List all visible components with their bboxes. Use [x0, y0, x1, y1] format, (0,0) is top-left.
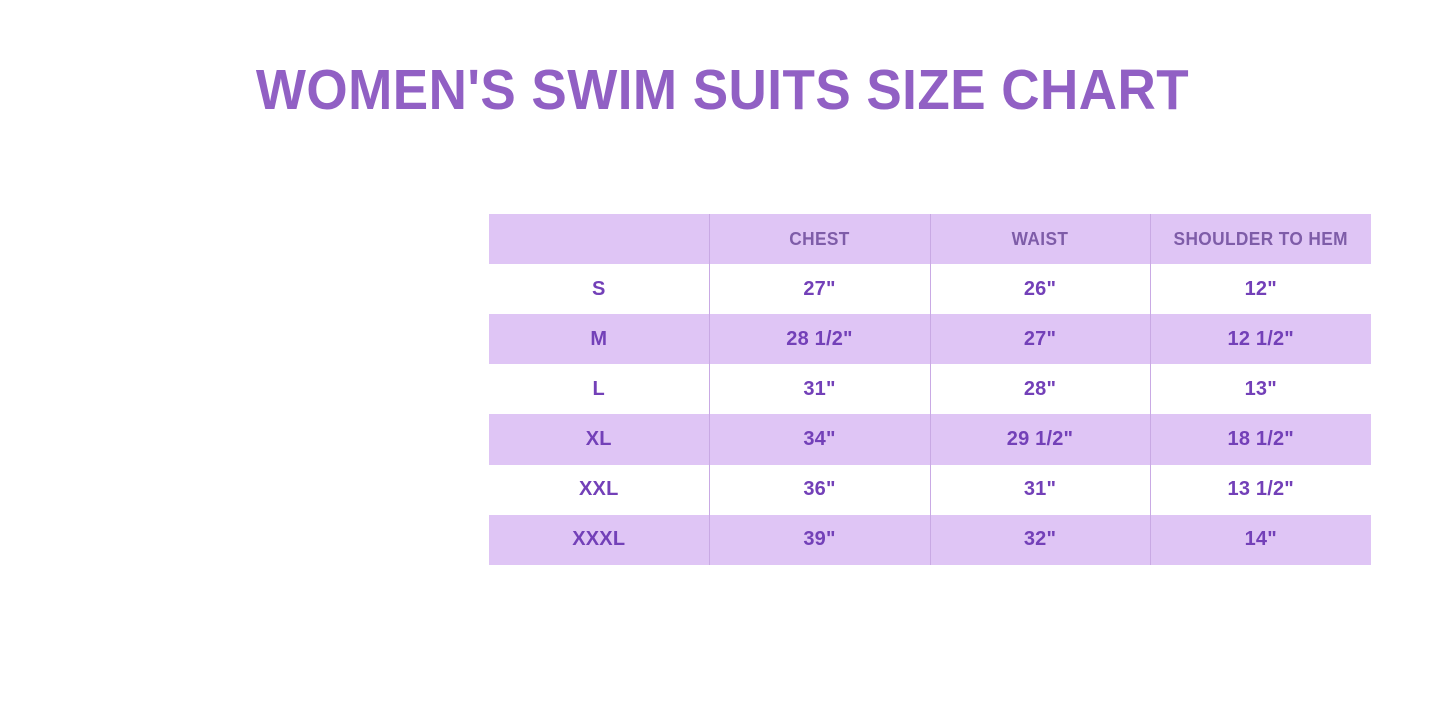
column-header-shoulder-to-hem: SHOULDER TO HEM	[1154, 214, 1366, 264]
cell-hem: 13"	[1150, 364, 1371, 414]
cell-size: M	[489, 314, 709, 364]
size-chart-container: CHEST WAIST SHOULDER TO HEM S 27" 26" 12…	[489, 214, 1371, 565]
page-title: WOMEN'S SWIM SUITS SIZE CHART	[51, 58, 1395, 122]
cell-hem: 14"	[1150, 515, 1371, 565]
cell-waist: 28"	[930, 364, 1150, 414]
cell-chest: 31"	[709, 364, 930, 414]
table-row: S 27" 26" 12"	[489, 264, 1371, 314]
cell-waist: 29 1/2"	[930, 414, 1150, 464]
size-chart-table: CHEST WAIST SHOULDER TO HEM S 27" 26" 12…	[489, 214, 1371, 565]
cell-waist: 31"	[930, 465, 1150, 515]
cell-hem: 12 1/2"	[1150, 314, 1371, 364]
table-row: XXL 36" 31" 13 1/2"	[489, 465, 1371, 515]
cell-waist: 32"	[930, 515, 1150, 565]
header-row: CHEST WAIST SHOULDER TO HEM	[489, 214, 1371, 264]
cell-hem: 18 1/2"	[1150, 414, 1371, 464]
cell-size: XXXL	[489, 515, 709, 565]
cell-chest: 39"	[709, 515, 930, 565]
column-header-size	[493, 214, 704, 264]
cell-hem: 12"	[1150, 264, 1371, 314]
table-body: S 27" 26" 12" M 28 1/2" 27" 12 1/2" L 31…	[489, 264, 1371, 565]
cell-chest: 27"	[709, 264, 930, 314]
cell-size: XL	[489, 414, 709, 464]
cell-size: XXL	[489, 465, 709, 515]
table-row: L 31" 28" 13"	[489, 364, 1371, 414]
table-row: XL 34" 29 1/2" 18 1/2"	[489, 414, 1371, 464]
table-row: XXXL 39" 32" 14"	[489, 515, 1371, 565]
cell-waist: 26"	[930, 264, 1150, 314]
cell-chest: 28 1/2"	[709, 314, 930, 364]
cell-size: L	[489, 364, 709, 414]
cell-waist: 27"	[930, 314, 1150, 364]
cell-size: S	[489, 264, 709, 314]
column-header-chest: CHEST	[713, 214, 925, 264]
table-row: M 28 1/2" 27" 12 1/2"	[489, 314, 1371, 364]
table-header: CHEST WAIST SHOULDER TO HEM	[489, 214, 1371, 264]
column-header-waist: WAIST	[934, 214, 1145, 264]
cell-hem: 13 1/2"	[1150, 465, 1371, 515]
cell-chest: 34"	[709, 414, 930, 464]
cell-chest: 36"	[709, 465, 930, 515]
